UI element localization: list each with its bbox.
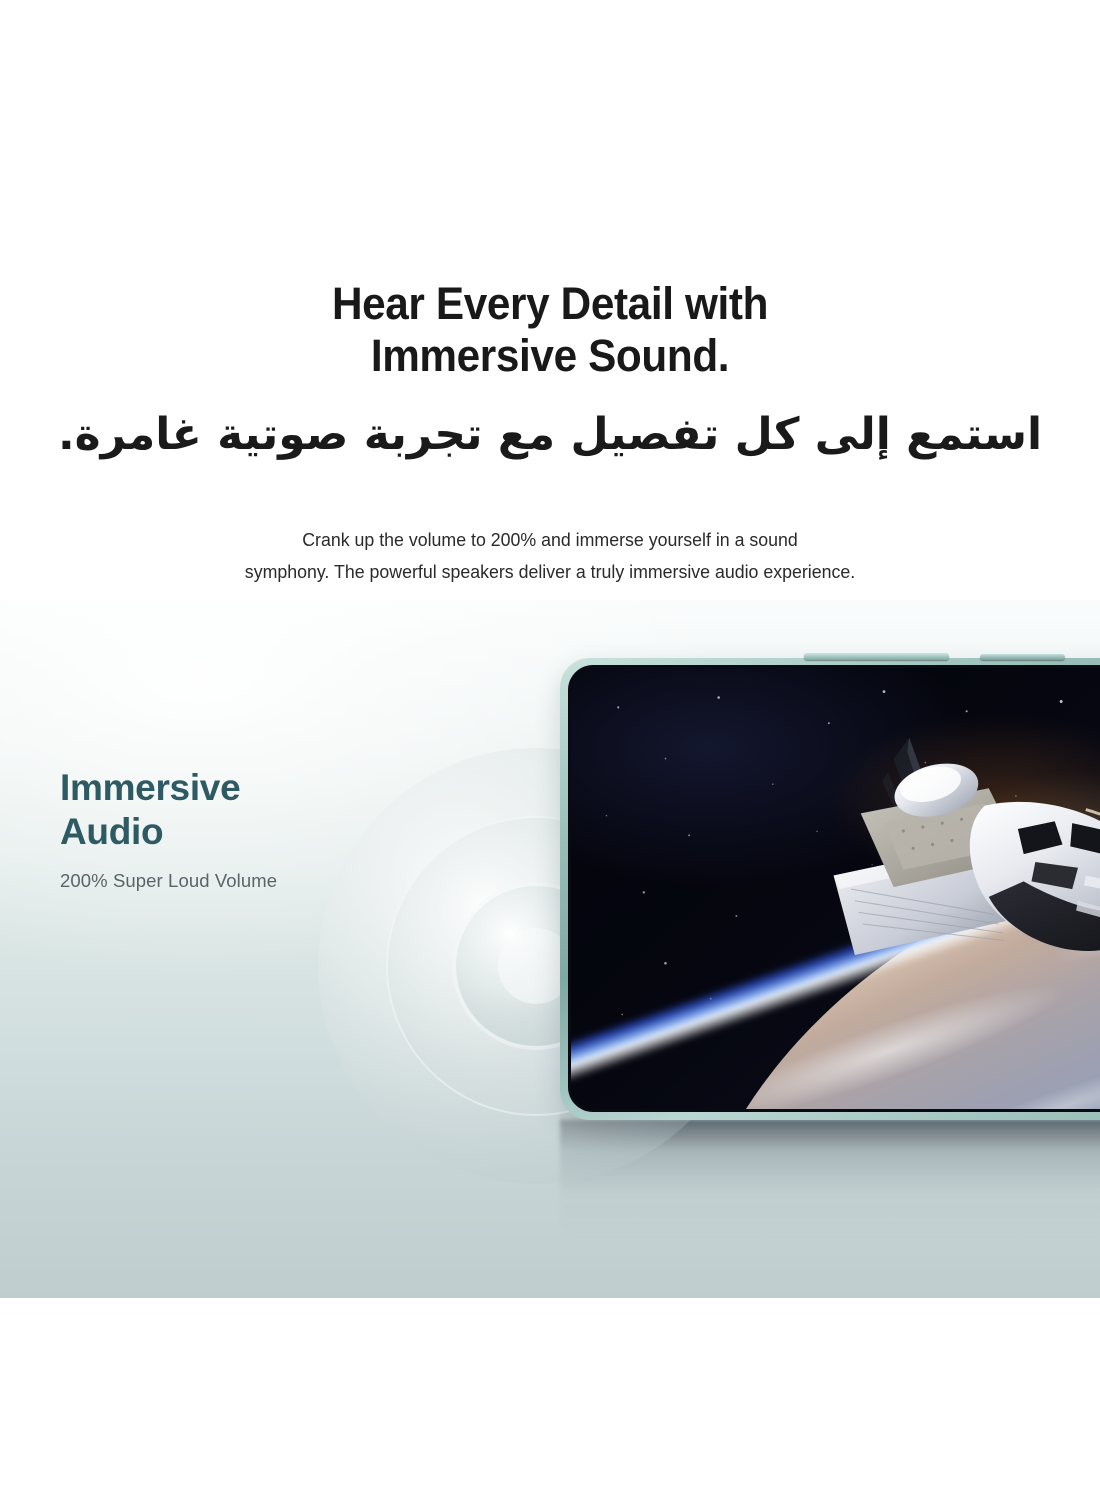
feature-label: Immersive Audio 200% Super Loud Volume bbox=[60, 766, 277, 892]
page-title-arabic: استمع إلى كل تفصيل مع تجربة صوتية غامرة. bbox=[0, 404, 1100, 466]
smartphone-device bbox=[560, 658, 1100, 1120]
page-title: Hear Every Detail with Immersive Sound. bbox=[33, 278, 1067, 382]
device-bezel bbox=[568, 665, 1100, 1112]
volume-rocker-button[interactable] bbox=[804, 653, 949, 660]
device-screen bbox=[571, 668, 1100, 1109]
subcopy-paragraph: Crank up the volume to 200% and immerse … bbox=[166, 524, 934, 588]
copy-block: Hear Every Detail with Immersive Sound. … bbox=[0, 0, 1100, 600]
product-feature-banner: Hear Every Detail with Immersive Sound. … bbox=[0, 0, 1100, 1500]
feature-subtitle: 200% Super Loud Volume bbox=[60, 870, 277, 892]
feature-title: Immersive Audio bbox=[60, 766, 277, 854]
power-button[interactable] bbox=[980, 654, 1065, 660]
space-shuttle-icon bbox=[778, 730, 1100, 1021]
hero-panel: Immersive Audio 200% Super Loud Volume bbox=[0, 596, 1100, 1298]
footer-whitespace bbox=[0, 1298, 1100, 1500]
